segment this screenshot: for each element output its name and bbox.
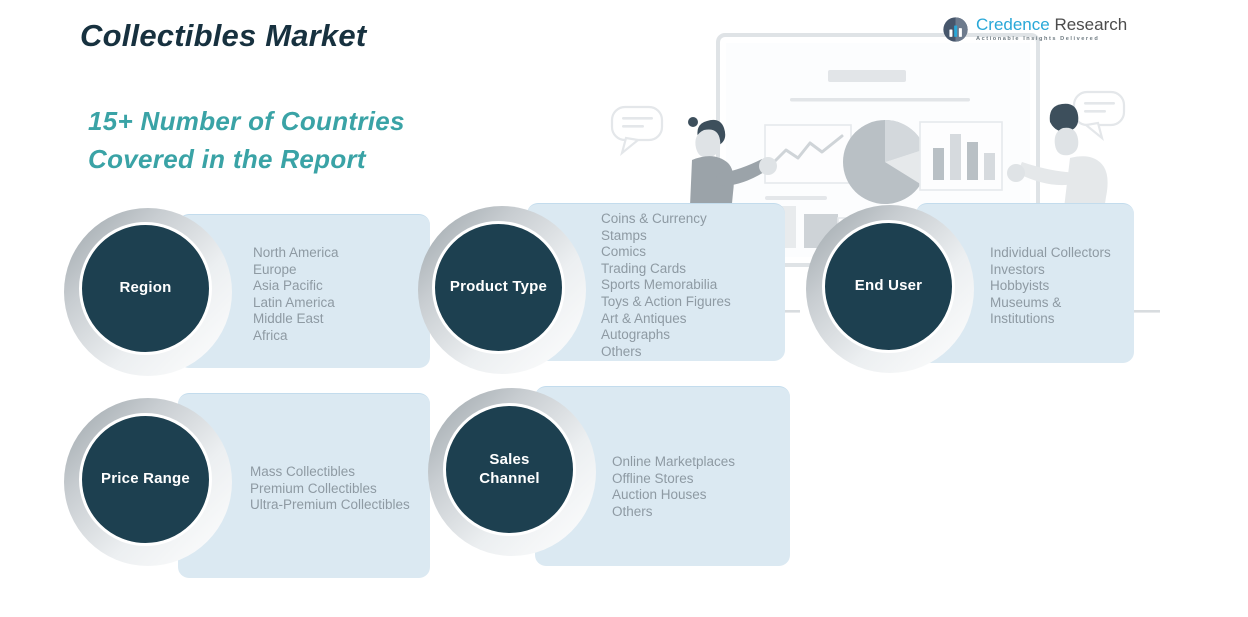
list-item: Ultra-Premium Collectibles (250, 497, 410, 514)
segment-price-range-items: Mass Collectibles Premium Collectibles U… (250, 464, 410, 514)
list-item: Comics (601, 244, 731, 261)
list-item: Africa (253, 328, 339, 345)
brand-name-rest: Research (1050, 15, 1127, 34)
list-item: Asia Pacific (253, 278, 339, 295)
brand-text: Credence Research Actionable Insights De… (976, 16, 1127, 43)
list-item: Hobbyists (990, 278, 1111, 295)
segment-sales-channel-items: Online Marketplaces Offline Stores Aucti… (612, 454, 735, 520)
segment-region-circle[interactable]: Region (79, 222, 212, 355)
segment-region-items: North America Europe Asia Pacific Latin … (253, 245, 339, 345)
credence-research-logo: Credence Research Actionable Insights De… (942, 16, 1127, 43)
segment-product-type-circle[interactable]: Product Type (432, 221, 565, 354)
list-item: Individual Collectors (990, 245, 1111, 262)
segment-sales-channel-label-line-1: Sales (489, 451, 529, 468)
list-item: Online Marketplaces (612, 454, 735, 471)
list-item: Toys & Action Figures (601, 294, 731, 311)
list-item: Premium Collectibles (250, 481, 410, 498)
list-item: Autographs (601, 327, 731, 344)
brand-tagline: Actionable Insights Delivered (976, 37, 1127, 43)
list-item: Stamps (601, 228, 731, 245)
list-item: Investors (990, 262, 1111, 279)
list-item: Europe (253, 262, 339, 279)
page-title: Collectibles Market (80, 18, 366, 54)
segment-price-range-label: Price Range (101, 470, 190, 489)
list-item: Others (612, 504, 735, 521)
report-subtitle: 15+ Number of Countries Covered in the R… (88, 103, 405, 178)
segment-sales-channel-label: Sales Channel (479, 451, 540, 489)
list-item: North America (253, 245, 339, 262)
list-item: Art & Antiques (601, 311, 731, 328)
segment-price-range-circle[interactable]: Price Range (79, 413, 212, 546)
list-item: Trading Cards (601, 261, 731, 278)
segment-sales-channel-label-line-2: Channel (479, 470, 540, 487)
subtitle-line-1: 15+ Number of Countries (88, 103, 405, 141)
list-item: Others (601, 344, 731, 361)
brand-name: Credence Research (976, 15, 1127, 34)
list-item: Latin America (253, 295, 339, 312)
segment-end-user-label: End User (855, 277, 922, 296)
segment-region-label: Region (119, 279, 171, 298)
list-item: Middle East (253, 311, 339, 328)
list-item: Museums & (990, 295, 1111, 312)
list-item: Mass Collectibles (250, 464, 410, 481)
list-item: Offline Stores (612, 471, 735, 488)
segment-product-type-label: Product Type (450, 278, 547, 297)
list-item: Coins & Currency (601, 211, 731, 228)
segment-end-user-circle[interactable]: End User (822, 220, 955, 353)
bar-chart-circle-icon (942, 16, 969, 43)
infographic-canvas: Collectibles Market 15+ Number of Countr… (0, 0, 1248, 617)
list-item: Sports Memorabilia (601, 277, 731, 294)
segment-end-user-items: Individual Collectors Investors Hobbyist… (990, 245, 1111, 328)
list-item: Institutions (990, 311, 1111, 328)
segment-product-type-items: Coins & Currency Stamps Comics Trading C… (601, 211, 731, 360)
brand-name-accent: Credence (976, 15, 1050, 34)
subtitle-line-2: Covered in the Report (88, 141, 405, 179)
list-item: Auction Houses (612, 487, 735, 504)
segment-sales-channel-circle[interactable]: Sales Channel (443, 403, 576, 536)
